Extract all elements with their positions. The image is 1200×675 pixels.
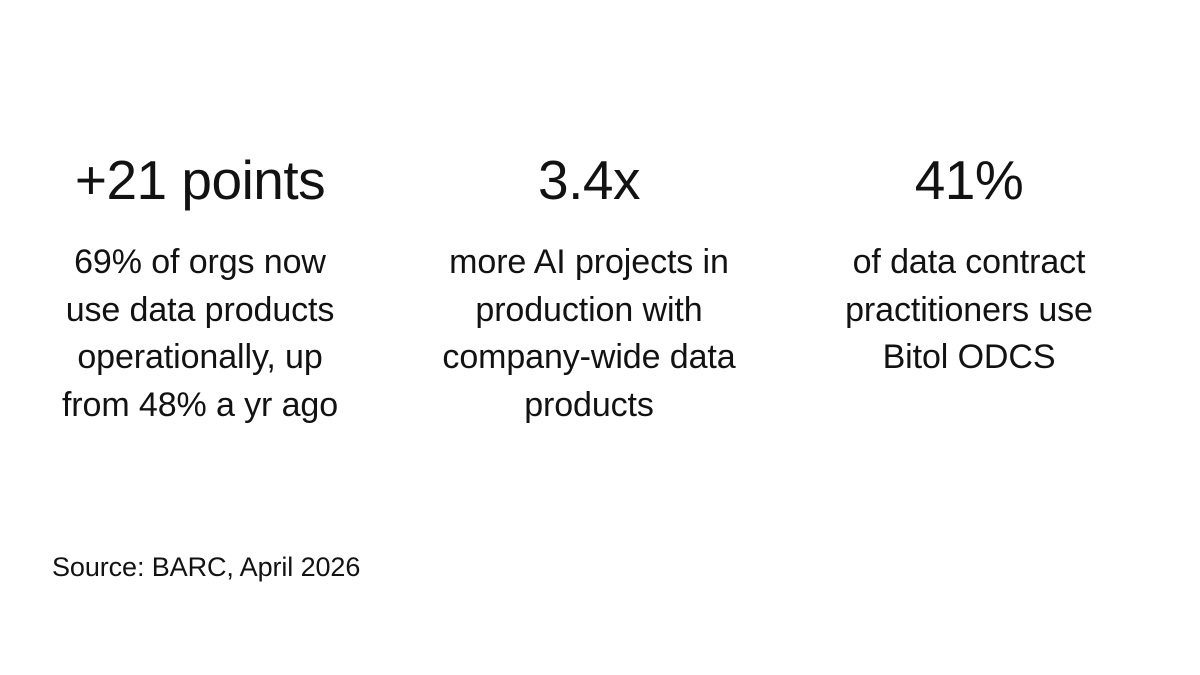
stat-body-3-line-1: of data contract	[845, 239, 1093, 287]
stat-body-3-line-3: Bitol ODCS	[845, 334, 1093, 382]
stat-callout-slide: +21 points 69% of orgs now use data prod…	[0, 0, 1200, 675]
stat-body-2-line-2: production with	[442, 287, 735, 335]
stats-row: +21 points 69% of orgs now use data prod…	[0, 148, 1200, 429]
stat-body-1-line-1: 69% of orgs now	[62, 239, 338, 287]
source-note: Source: BARC, April 2026	[52, 550, 360, 584]
stat-headline-1: +21 points	[75, 148, 325, 212]
stat-body-2: more AI projects in production with comp…	[442, 239, 735, 429]
stat-headline-3: 41%	[915, 148, 1024, 212]
stat-body-2-line-3: company-wide data	[442, 334, 735, 382]
stat-column-2: 3.4x more AI projects in production with…	[400, 148, 778, 429]
stat-body-3-line-2: practitioners use	[845, 287, 1093, 335]
stat-body-1-line-2: use data products	[62, 287, 338, 335]
stat-body-2-line-4: products	[442, 382, 735, 430]
stat-column-1: +21 points 69% of orgs now use data prod…	[0, 148, 400, 429]
stat-body-1: 69% of orgs now use data products operat…	[62, 239, 338, 429]
stat-body-1-line-3: operationally, up	[62, 334, 338, 382]
stat-body-3: of data contract practitioners use Bitol…	[845, 239, 1093, 382]
stat-body-1-line-4: from 48% a yr ago	[62, 382, 338, 430]
stat-column-3: 41% of data contract practitioners use B…	[778, 148, 1160, 382]
stat-body-2-line-1: more AI projects in	[442, 239, 735, 287]
stat-headline-2: 3.4x	[538, 148, 640, 212]
